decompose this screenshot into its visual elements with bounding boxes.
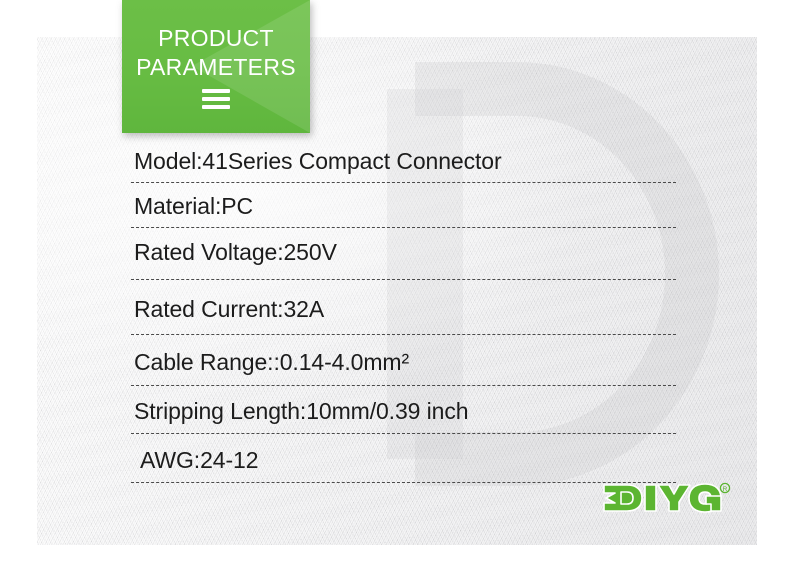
- hamburger-bar: [202, 97, 230, 101]
- spec-row: Rated Voltage:250V: [131, 228, 676, 280]
- hamburger-icon: [202, 89, 230, 109]
- svg-text:R: R: [723, 486, 728, 493]
- spec-row-text: Model:41Series Compact Connector: [134, 148, 676, 174]
- product-parameters-header: PRODUCT PARAMETERS: [122, 0, 310, 133]
- spec-row: Model:41Series Compact Connector: [131, 148, 676, 183]
- spec-row: Stripping Length:10mm/0.39 inch: [131, 386, 676, 434]
- spec-row-text: Stripping Length:10mm/0.39 inch: [134, 398, 676, 424]
- spec-row: AWG:24-12: [131, 434, 676, 483]
- spec-row: Cable Range::0.14-4.0mm²: [131, 335, 676, 386]
- spec-row-text: Cable Range::0.14-4.0mm²: [134, 349, 676, 375]
- product-parameters-banner: PRODUCT PARAMETERS Model:41Series Compac…: [0, 0, 800, 586]
- hamburger-bar: [202, 89, 230, 93]
- header-title: PRODUCT PARAMETERS: [122, 24, 310, 82]
- spec-row-text: Rated Voltage:250V: [134, 239, 676, 265]
- hamburger-bar: [202, 105, 230, 109]
- spec-row-text: AWG:24-12: [140, 447, 676, 473]
- spec-list: Model:41Series Compact Connector Materia…: [131, 148, 676, 483]
- spec-row-text: Rated Current:32A: [134, 296, 676, 322]
- header-title-line1: PRODUCT: [122, 24, 310, 53]
- header-title-line2: PARAMETERS: [122, 53, 310, 82]
- spec-row-text: Material:PC: [134, 193, 676, 219]
- spec-row: Rated Current:32A: [131, 280, 676, 335]
- spec-row: Material:PC: [131, 183, 676, 228]
- registered-trademark-icon: R: [720, 483, 729, 493]
- diygo-logo: R: [601, 479, 731, 519]
